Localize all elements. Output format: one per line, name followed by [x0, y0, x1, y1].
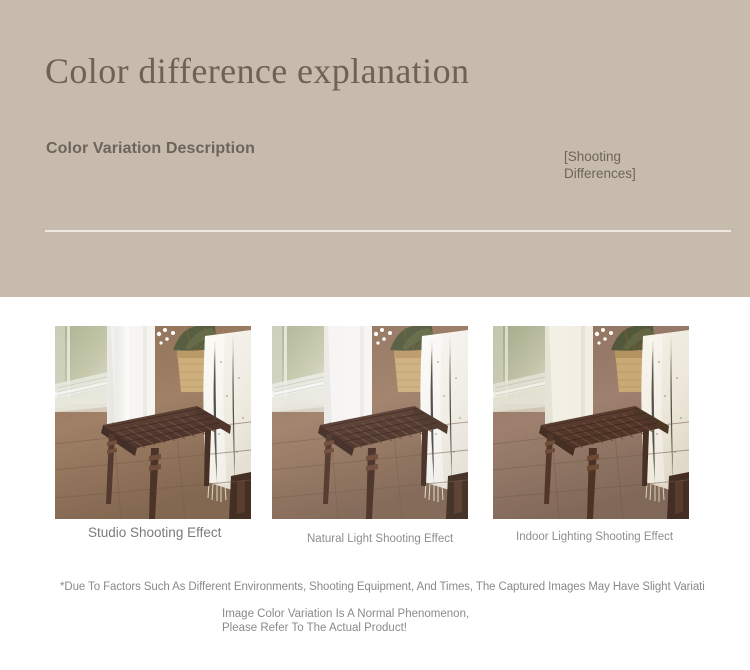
- caption-natural-light-shooting: Natural Light Shooting Effect: [307, 532, 477, 547]
- bench-scene-illustration-natural: [272, 326, 468, 519]
- color-difference-explanation-page: Color difference explanation Color Varia…: [0, 0, 750, 670]
- header-divider: [45, 230, 731, 232]
- disclaimer-sub-line-2: Please Refer To The Actual Product!: [222, 621, 469, 635]
- studio-shooting-photo[interactable]: [55, 326, 251, 519]
- header-band: Color difference explanation Color Varia…: [0, 0, 750, 297]
- disclaimer-sub-note: Image Color Variation Is A Normal Phenom…: [222, 607, 469, 635]
- natural-light-shooting-photo[interactable]: [272, 326, 468, 519]
- disclaimer-main-note: *Due To Factors Such As Different Enviro…: [60, 581, 705, 593]
- bench-scene-illustration-indoor: [493, 326, 689, 519]
- disclaimer-sub-line-1: Image Color Variation Is A Normal Phenom…: [222, 607, 469, 621]
- caption-indoor-lighting-shooting: Indoor Lighting Shooting Effect: [516, 530, 701, 545]
- gallery-section: Studio Shooting Effect Natural Light Sho…: [0, 297, 750, 670]
- shooting-differences-tag: [Shooting Differences]: [564, 148, 684, 182]
- caption-studio-shooting: Studio Shooting Effect: [88, 525, 248, 541]
- indoor-lighting-shooting-photo[interactable]: [493, 326, 689, 519]
- page-title: Color difference explanation: [45, 50, 469, 92]
- section-subtitle: Color Variation Description: [46, 140, 255, 158]
- bench-scene-illustration-studio: [55, 326, 251, 519]
